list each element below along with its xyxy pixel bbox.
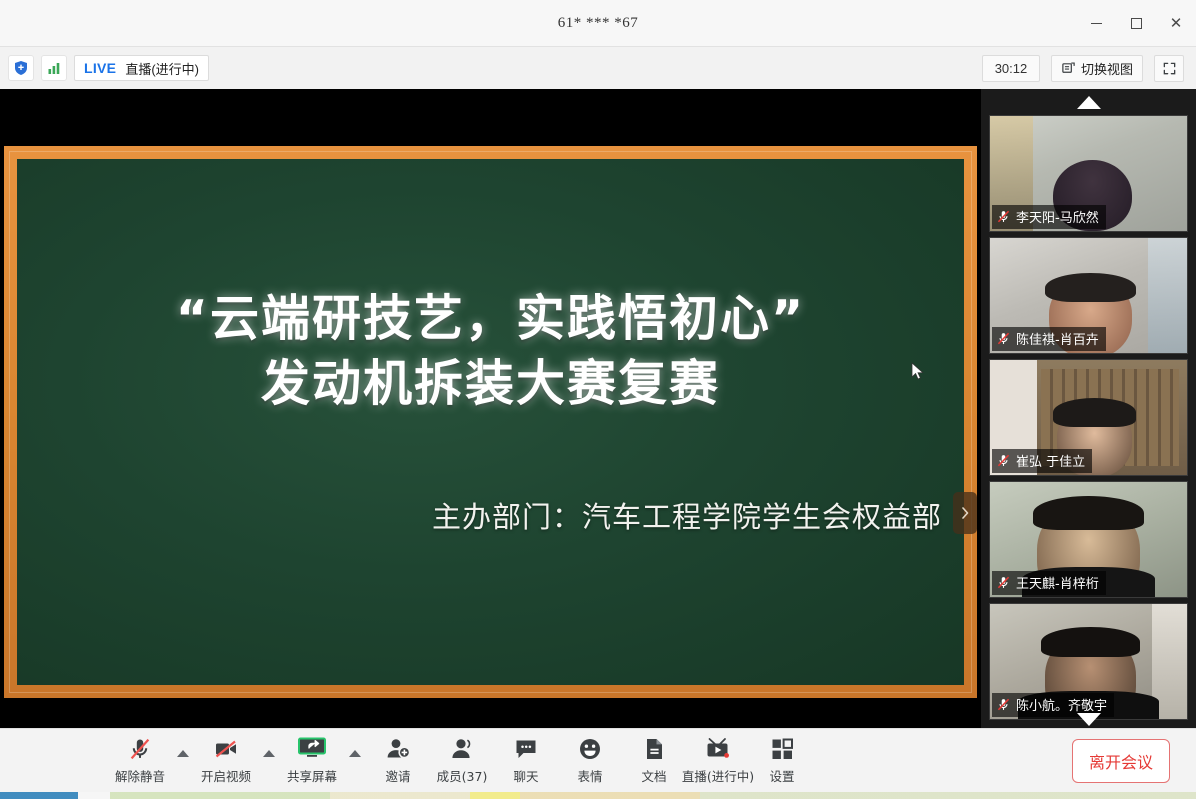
chalkboard-slide: “云端研技艺，实践悟初心” 发动机拆装大赛复赛 主办部门：汽车工程学院学生会权益…	[17, 159, 964, 685]
close-icon: ✕	[1170, 16, 1183, 31]
live-broadcast-label: 直播(进行中)	[682, 766, 754, 785]
desktop-taskbar-edge	[0, 792, 1196, 799]
start-video-label: 开启视频	[201, 766, 251, 785]
participant-name: 陈佳祺-肖百卉	[1016, 329, 1099, 348]
participants-button[interactable]: 成员(37)	[430, 736, 494, 785]
toolbar-right-group: 30:12 切换视图	[982, 55, 1188, 82]
filmstrip-scroll-up-button[interactable]	[981, 89, 1196, 115]
close-button[interactable]: ✕	[1156, 0, 1196, 46]
mic-muted-icon	[996, 453, 1011, 468]
slide-subtitle: 主办部门：汽车工程学院学生会权益部	[17, 494, 964, 536]
next-slide-button[interactable]	[953, 492, 977, 534]
toolbar-left-group: LIVE 直播(进行中)	[8, 55, 209, 81]
meeting-timer: 30:12	[982, 55, 1040, 82]
start-video-button[interactable]: 开启视频	[194, 736, 258, 785]
caret-up-icon	[349, 750, 361, 757]
camera-off-icon	[213, 736, 239, 762]
mic-muted-icon	[996, 209, 1011, 224]
participant-name: 陈小航。齐敬宇	[1016, 695, 1107, 714]
triangle-down-icon	[1077, 713, 1101, 726]
slide-title: “云端研技艺，实践悟初心” 发动机拆装大赛复赛	[17, 287, 964, 416]
live-badge-text: LIVE	[84, 60, 116, 76]
participant-name-tag: 崔弘 于佳立	[992, 449, 1092, 473]
switch-view-icon	[1061, 61, 1076, 76]
control-items: 解除静音 开启视频 共享屏幕	[108, 736, 814, 785]
signal-bars-icon[interactable]	[41, 55, 67, 81]
triangle-up-icon	[1077, 96, 1101, 109]
live-status-text: 直播(进行中)	[125, 59, 199, 78]
caret-up-icon	[263, 750, 275, 757]
minimize-button[interactable]	[1076, 0, 1116, 46]
participant-name: 李天阳-马欣然	[1016, 207, 1099, 226]
meeting-control-bar: 解除静音 开启视频 共享屏幕	[0, 728, 1196, 792]
settings-button[interactable]: 设置	[750, 736, 814, 785]
participant-name-tag: 陈佳祺-肖百卉	[992, 327, 1106, 351]
slide-title-line2: 发动机拆装大赛复赛	[17, 352, 964, 417]
chat-button[interactable]: 聊天	[494, 736, 558, 785]
document-label: 文档	[641, 766, 666, 785]
unmute-label: 解除静音	[115, 766, 165, 785]
invite-person-icon	[385, 736, 411, 762]
document-button[interactable]: 文档	[622, 736, 686, 785]
mic-muted-icon	[127, 736, 153, 762]
fullscreen-button[interactable]	[1154, 55, 1184, 82]
settings-label: 设置	[769, 766, 794, 785]
participant-name: 王天麒-肖梓桁	[1016, 573, 1099, 592]
slide-frame: “云端研技艺，实践悟初心” 发动机拆装大赛复赛 主办部门：汽车工程学院学生会权益…	[4, 146, 977, 698]
meeting-top-toolbar: LIVE 直播(进行中) 30:12 切换视图	[0, 46, 1196, 89]
maximize-button[interactable]	[1116, 0, 1156, 46]
participant-tile[interactable]: 王天麒-肖梓桁	[989, 481, 1188, 598]
maximize-icon	[1131, 18, 1142, 29]
participant-filmstrip[interactable]: 李天阳-马欣然 陈佳祺-肖百卉	[981, 89, 1196, 728]
mic-muted-icon	[996, 697, 1011, 712]
emoji-icon	[577, 736, 603, 762]
switch-view-button[interactable]: 切换视图	[1051, 55, 1143, 82]
emoji-button[interactable]: 表情	[558, 736, 622, 785]
leave-meeting-button[interactable]: 离开会议	[1072, 739, 1170, 783]
shield-icon[interactable]	[8, 55, 34, 81]
invite-label: 邀请	[385, 766, 410, 785]
audio-options-caret[interactable]	[172, 741, 194, 781]
live-broadcast-icon	[704, 736, 732, 762]
unmute-button[interactable]: 解除静音	[108, 736, 172, 785]
video-options-caret[interactable]	[258, 741, 280, 781]
window-title: 61* *** *67	[558, 15, 639, 32]
chat-label: 聊天	[513, 766, 538, 785]
chevron-right-icon	[960, 505, 970, 521]
caret-up-icon	[177, 750, 189, 757]
live-broadcast-button[interactable]: 直播(进行中)	[686, 736, 750, 785]
meeting-window: 61* *** *67 ✕ LIVE	[0, 0, 1196, 799]
participant-name: 崔弘 于佳立	[1016, 451, 1085, 470]
window-title-bar: 61* *** *67 ✕	[0, 0, 1196, 46]
participant-name-tag: 李天阳-马欣然	[992, 205, 1106, 229]
share-screen-button[interactable]: 共享屏幕	[280, 736, 344, 785]
invite-button[interactable]: 邀请	[366, 736, 430, 785]
participants-icon	[449, 736, 475, 762]
chat-icon	[513, 736, 539, 762]
live-status-badge[interactable]: LIVE 直播(进行中)	[74, 55, 209, 81]
participant-tile[interactable]: 李天阳-马欣然	[989, 115, 1188, 232]
emoji-label: 表情	[577, 766, 602, 785]
mic-muted-icon	[996, 575, 1011, 590]
document-icon	[641, 736, 667, 762]
share-screen-label: 共享屏幕	[287, 766, 337, 785]
minimize-icon	[1091, 23, 1102, 24]
shared-screen-stage[interactable]: “云端研技艺，实践悟初心” 发动机拆装大赛复赛 主办部门：汽车工程学院学生会权益…	[0, 89, 981, 728]
participant-tile[interactable]: 崔弘 于佳立	[989, 359, 1188, 476]
mouse-cursor-icon	[911, 362, 925, 382]
share-options-caret[interactable]	[344, 741, 366, 781]
window-controls: ✕	[1076, 0, 1196, 46]
filmstrip-scroll-down-button[interactable]	[981, 713, 1196, 726]
participant-name-tag: 王天麒-肖梓桁	[992, 571, 1106, 595]
settings-grid-icon	[769, 736, 795, 762]
participant-tile[interactable]: 陈小航。齐敬宇	[989, 603, 1188, 720]
mic-muted-icon	[996, 331, 1011, 346]
share-screen-icon	[297, 736, 327, 762]
participant-tile[interactable]: 陈佳祺-肖百卉	[989, 237, 1188, 354]
slide-title-line1: “云端研技艺，实践悟初心”	[17, 287, 964, 352]
participants-label: 成员(37)	[437, 766, 488, 785]
switch-view-label: 切换视图	[1081, 59, 1133, 78]
fullscreen-icon	[1162, 61, 1177, 76]
